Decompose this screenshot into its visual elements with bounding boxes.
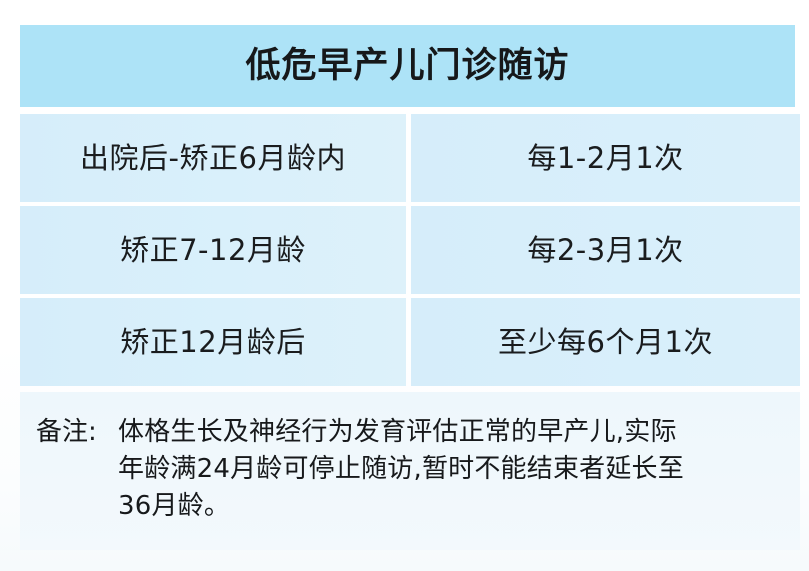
table-cell-age-text: 出院后-矫正6月龄内 <box>80 144 346 173</box>
table-cell-frequency-text: 每1-2月1次 <box>527 144 683 173</box>
table-cell-age: 矫正7-12月龄 <box>20 206 406 294</box>
table-row: 矫正7-12月龄 每2-3月1次 <box>20 206 800 294</box>
table-cell-age: 出院后-矫正6月龄内 <box>20 114 406 202</box>
footnote-label: 备注: <box>36 414 118 451</box>
table-cell-frequency-text: 每2-3月1次 <box>527 236 683 265</box>
page-title: 低危早产儿门诊随访 <box>245 49 569 84</box>
footnote-line-3: 36月龄。 <box>118 488 784 525</box>
infographic-page: 低危早产儿门诊随访 出院后-矫正6月龄内 每1-2月1次 矫正7-12月龄 每2… <box>0 0 809 571</box>
footnote-line-2-wrap: 年龄满24月龄可停止随访,暂时不能结束者延长至 <box>36 451 784 488</box>
table-row: 矫正12月龄后 至少每6个月1次 <box>20 298 800 386</box>
footnote-first-line: 备注: 体格生长及神经行为发育评估正常的早产儿,实际 <box>36 414 784 451</box>
table-cell-age: 矫正12月龄后 <box>20 298 406 386</box>
table-cell-frequency: 每1-2月1次 <box>411 114 800 202</box>
table-cell-frequency: 每2-3月1次 <box>411 206 800 294</box>
followup-schedule-table: 出院后-矫正6月龄内 每1-2月1次 矫正7-12月龄 每2-3月1次 矫正12… <box>20 114 800 390</box>
table-cell-age-text: 矫正7-12月龄 <box>120 236 306 265</box>
title-banner: 低危早产儿门诊随访 <box>20 25 795 107</box>
footnote-block: 备注: 体格生长及神经行为发育评估正常的早产儿,实际 年龄满24月龄可停止随访,… <box>20 392 800 550</box>
table-cell-frequency-text: 至少每6个月1次 <box>498 328 713 357</box>
table-cell-age-text: 矫正12月龄后 <box>120 328 305 357</box>
footnote-line-1: 体格生长及神经行为发育评估正常的早产儿,实际 <box>118 414 784 451</box>
footnote-line-2: 年龄满24月龄可停止随访,暂时不能结束者延长至 <box>118 451 784 488</box>
table-row: 出院后-矫正6月龄内 每1-2月1次 <box>20 114 800 202</box>
footnote-line-3-wrap: 36月龄。 <box>36 488 784 525</box>
table-cell-frequency: 至少每6个月1次 <box>411 298 800 386</box>
